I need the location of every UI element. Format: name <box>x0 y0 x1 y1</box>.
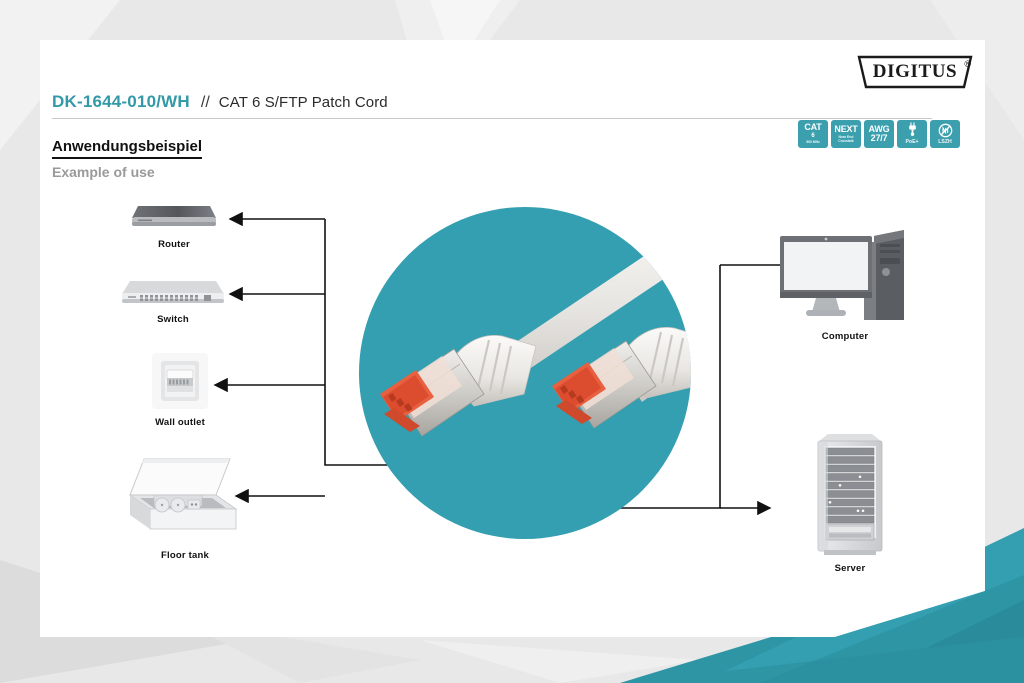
section-heading-en: Example of use <box>52 164 202 180</box>
product-title-row: DK-1644-010/WH // CAT 6 S/FTP Patch Cord <box>52 92 932 119</box>
cat6-badge: CAT 6 500 MHz <box>798 120 828 148</box>
next-badge: NEXT Near End Crosstalk <box>831 120 861 148</box>
registered-mark: ® <box>964 59 971 69</box>
digitus-logo: DIGITUS ® <box>856 54 974 90</box>
router-label: Router <box>118 239 230 250</box>
lszh-badge-label: LSZH <box>938 139 952 146</box>
wall-outlet-label: Wall outlet <box>125 417 235 428</box>
cat6-badge-line1: CAT <box>804 123 821 132</box>
computer-icon <box>770 228 920 326</box>
cat6-badge-line2: 6 <box>811 133 814 139</box>
section-heading-de: Anwendungsbeispiel <box>52 138 202 159</box>
router-icon <box>118 200 230 234</box>
cat6-badge-line3: 500 MHz <box>806 140 820 144</box>
lszh-badge: LSZH <box>930 120 960 148</box>
server-icon <box>785 430 915 558</box>
next-badge-line1: NEXT <box>834 125 857 134</box>
product-image <box>350 198 700 553</box>
awg-badge: AWG 27/7 <box>864 120 894 148</box>
device-wall-outlet: Wall outlet <box>125 350 235 428</box>
device-computer: Computer <box>770 228 920 342</box>
spec-badge-row: CAT 6 500 MHz NEXT Near End Crosstalk AW… <box>798 120 960 148</box>
logo-wordmark: DIGITUS <box>856 54 974 90</box>
device-server: Server <box>785 430 915 574</box>
wall-outlet-icon <box>125 350 235 412</box>
product-name: CAT 6 S/FTP Patch Cord <box>219 94 388 111</box>
next-badge-line3: Near End Crosstalk <box>838 135 853 144</box>
floor-tank-icon <box>115 455 255 545</box>
title-separator: // <box>201 94 210 112</box>
server-label: Server <box>785 563 915 574</box>
floor-tank-label: Floor tank <box>115 550 255 561</box>
no-smoke-icon <box>938 123 953 138</box>
device-floor-tank: Floor tank <box>115 455 255 561</box>
product-sku: DK-1644-010/WH <box>52 92 190 112</box>
device-switch: Switch <box>108 275 238 325</box>
switch-label: Switch <box>108 314 238 325</box>
plug-icon <box>906 122 919 137</box>
application-diagram: Router <box>40 190 985 600</box>
poe-badge: PoE+ <box>897 120 927 148</box>
section-heading: Anwendungsbeispiel Example of use <box>52 138 202 180</box>
computer-label: Computer <box>770 331 920 342</box>
device-router: Router <box>118 200 230 250</box>
awg-badge-line2: 27/7 <box>871 134 888 143</box>
switch-icon <box>108 275 238 309</box>
poe-badge-label: PoE+ <box>905 139 918 146</box>
